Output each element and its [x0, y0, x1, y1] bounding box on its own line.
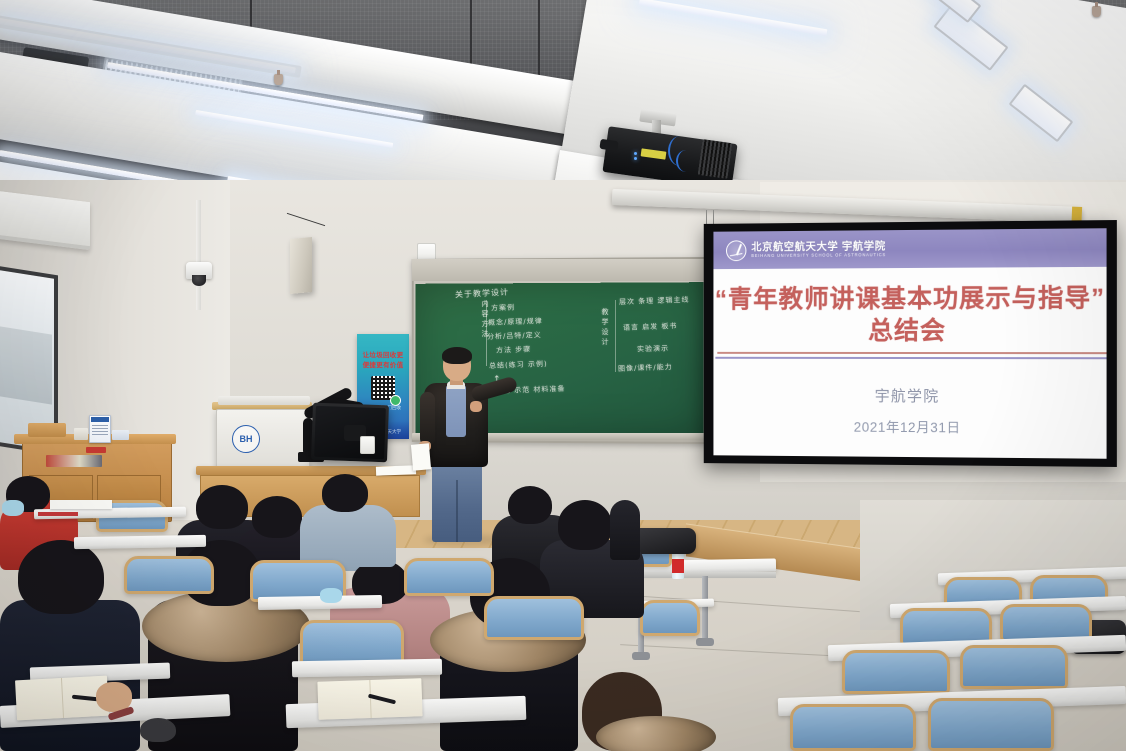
- audience-head: [18, 540, 104, 614]
- blackboard-chalk-text: 分析/吕特/定义: [487, 330, 542, 342]
- sprinkler-icon: [274, 74, 283, 85]
- audience-head: [558, 500, 612, 550]
- blackboard-chalk-divider: [615, 300, 616, 372]
- equipment-box: [218, 396, 310, 405]
- lecture-hall-photo: 让垃圾回收更 便捷更有价值 扫码预约上门回收 北京航空航天大学 关于教学设计 方…: [0, 0, 1126, 751]
- wall-outlet[interactable]: [360, 436, 375, 454]
- podium: [216, 409, 310, 473]
- blackboard-chalk-text: 总结(练习 示例): [489, 359, 548, 371]
- slide-subtitle: 宇航学院: [713, 384, 1106, 407]
- audience-head: [252, 496, 302, 538]
- info-sign-card: [89, 415, 111, 443]
- paper-stack-red: [38, 512, 78, 516]
- slide-brand-en: BEIHANG UNIVERSITY SCHOOL OF ASTRONAUTIC…: [751, 254, 886, 259]
- presenter-hair: [442, 347, 472, 364]
- open-notebook: [317, 678, 422, 720]
- blackboard-chalk-text: 方法 步骤: [496, 344, 532, 355]
- blackboard-chalk-bracket: 教学设计: [600, 308, 610, 348]
- projector-cable: [676, 150, 696, 172]
- audience-body: [610, 500, 640, 560]
- presentation-slide: 北京航空航天大学 宇航学院 BEIHANG UNIVERSITY SCHOOL …: [713, 228, 1106, 459]
- desk-leg: [702, 576, 708, 642]
- poster-headline-2: 便捷更有价值: [357, 361, 409, 370]
- slide-title-line-2: 总结会: [713, 315, 1106, 348]
- audience-head: [196, 485, 248, 529]
- desk-top: [74, 535, 206, 549]
- podium-seal-emblem: BH: [232, 425, 260, 453]
- blackboard-chalk-text: 实验演示: [637, 343, 669, 354]
- projector-status-led: [634, 152, 637, 155]
- chair-back[interactable]: [790, 704, 916, 751]
- chair-back[interactable]: [960, 645, 1068, 689]
- desk-top: [292, 659, 442, 678]
- computer-mouse[interactable]: [140, 718, 176, 742]
- projector-status-led: [634, 157, 637, 160]
- presenter-leg-split: [456, 480, 458, 542]
- presenter-papers: [411, 443, 431, 470]
- red-item: [86, 447, 106, 453]
- chair-back[interactable]: [928, 698, 1054, 751]
- blackboard-chalk-divider: [486, 300, 487, 366]
- slide-brand-cn: 北京航空航天大学 宇航学院: [751, 242, 886, 253]
- beihang-crest-icon: [726, 240, 746, 261]
- projection-screen: 北京航空航天大学 宇航学院 BEIHANG UNIVERSITY SCHOOL …: [704, 220, 1117, 467]
- desk-foot: [696, 638, 714, 646]
- audience-body: [300, 505, 396, 567]
- presenter-hand: [470, 401, 482, 412]
- blackboard-chalk-text: 方案例: [491, 303, 515, 314]
- presenter-arm-down: [420, 392, 435, 446]
- paper-sheet: [376, 465, 416, 475]
- face-mask: [2, 500, 24, 516]
- desk-supplies: [74, 428, 88, 440]
- camera-conduit: [196, 200, 201, 310]
- sprinkler-icon: [1092, 6, 1101, 17]
- bottle-label: [672, 559, 684, 573]
- audience-head: [322, 474, 368, 512]
- slide-title-line-1: “青年教师讲课基本功展示与指导”: [713, 282, 1106, 316]
- face-mask: [320, 588, 342, 603]
- window-view: [0, 325, 52, 404]
- projector-vent: [698, 139, 733, 179]
- wall-speaker-icon: [290, 237, 312, 294]
- blackboard-chalk-text: 语言 启发 板书: [623, 321, 678, 333]
- audience-head: [508, 486, 552, 524]
- tissue-box: [112, 430, 129, 440]
- slide-brand-lockup: 北京航空航天大学 宇航学院 BEIHANG UNIVERSITY SCHOOL …: [726, 239, 886, 261]
- blackboard-chalk-text: 概念/原理/规律: [488, 316, 543, 328]
- chair-back[interactable]: [404, 558, 494, 596]
- slide-divider-purple: [715, 357, 1106, 359]
- desk-foot: [632, 652, 650, 660]
- fur-collar: [596, 716, 716, 751]
- paper-stack: [50, 500, 112, 509]
- blackboard-chalk-text: 图像/课件/能力: [618, 362, 673, 374]
- cabinet-shelf-items: [46, 455, 102, 467]
- chair-back[interactable]: [484, 596, 584, 640]
- slide-date: 2021年12月31日: [713, 415, 1106, 438]
- presenter-sweater: [446, 385, 466, 437]
- slide-divider-red: [717, 352, 1106, 354]
- blackboard-chalk-bracket: 内容方法: [480, 300, 490, 340]
- chair-back[interactable]: [124, 556, 214, 594]
- poster-headline-1: 让垃圾回收更: [357, 351, 409, 360]
- dome-camera-icon: [186, 262, 212, 279]
- cabinet-riser: [28, 423, 66, 437]
- blackboard-top-rail: [412, 259, 706, 281]
- chair-back[interactable]: [842, 650, 950, 694]
- chair-back[interactable]: [640, 600, 700, 636]
